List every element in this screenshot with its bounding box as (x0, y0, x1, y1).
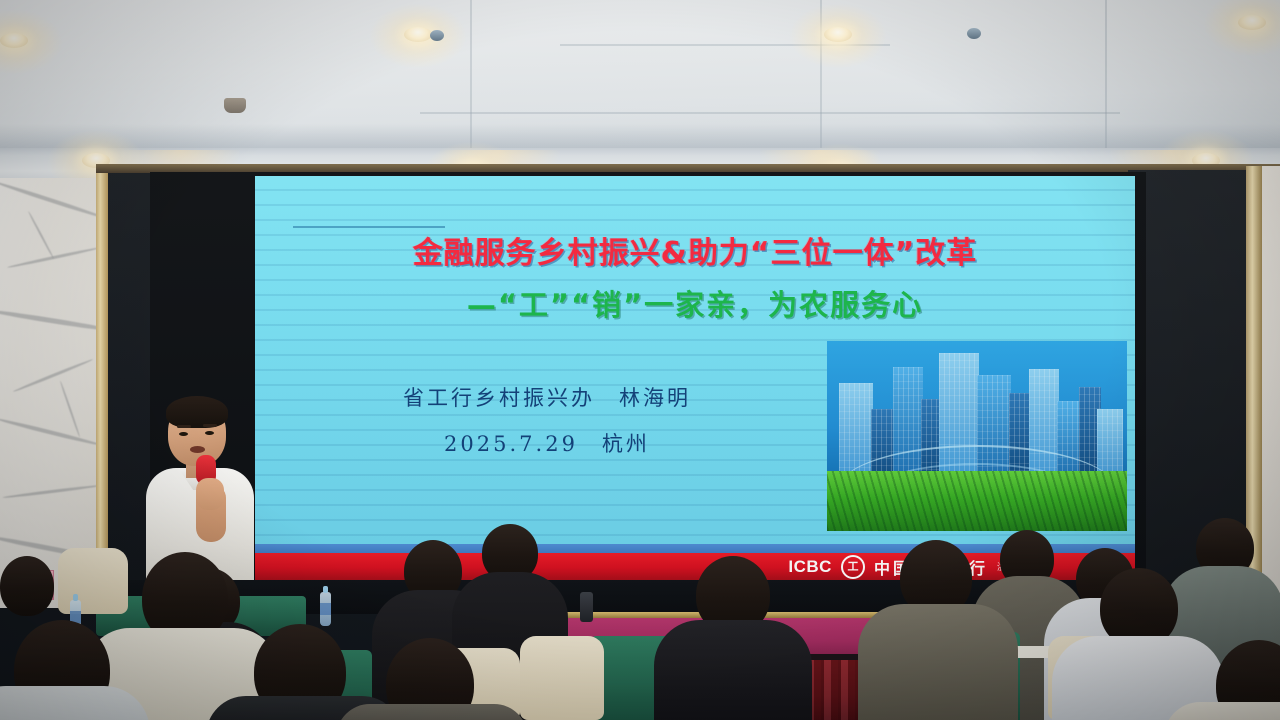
icbc-logo-icon: 工 (841, 555, 865, 579)
gold-trim-left (96, 172, 108, 608)
water-bottle-icon (320, 592, 331, 626)
chair (520, 636, 604, 720)
marble-wall-left (0, 178, 96, 608)
smoke-sensor-icon (967, 28, 981, 39)
marble-wall-right (1262, 166, 1280, 610)
audience-head (0, 556, 54, 616)
icbc-latin-wordmark: ICBC (788, 557, 832, 577)
chair (58, 548, 128, 614)
ceiling (0, 0, 1280, 150)
presenter-hand (196, 478, 224, 510)
smoke-sensor-icon (430, 30, 444, 41)
tumbler-icon (580, 592, 593, 622)
audience-body (336, 704, 528, 720)
presenter-mouth (190, 446, 205, 453)
presentation-slide: 金融服务乡村振兴&助力“三位一体”改革 —“工”“销”一家亲，为农服务心 省工行… (255, 176, 1135, 544)
slide-city-image (827, 341, 1127, 531)
presenter-hair (166, 396, 228, 428)
slide-subtitle: —“工”“销”一家亲，为农服务心 (255, 282, 1135, 324)
audience-body (654, 620, 812, 720)
air-vent-icon (224, 98, 246, 113)
audience-body (858, 604, 1018, 720)
slide-byline: 省工行乡村振兴办 林海明 (317, 382, 777, 412)
slide-date-location: 2025.7.29 杭州 (317, 428, 777, 458)
conference-room-photo: 金融服务乡村振兴&助力“三位一体”改革 —“工”“销”一家亲，为农服务心 省工行… (0, 0, 1280, 720)
slide-title: 金融服务乡村振兴&助力“三位一体”改革 (255, 228, 1135, 272)
